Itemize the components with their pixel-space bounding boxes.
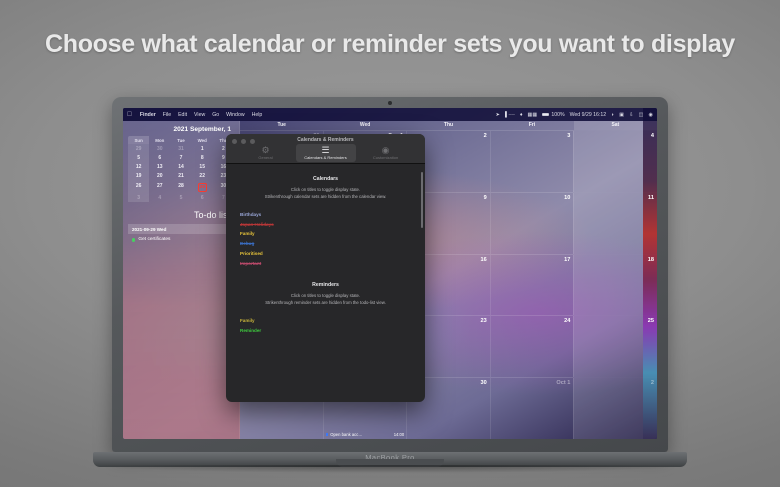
calendar-weekday-header: Wed [323, 121, 406, 130]
tab-customization-label: Customization [373, 155, 398, 160]
mini-calendar-day[interactable]: 19 [128, 172, 149, 181]
calendar-day-number: 10 [491, 195, 571, 201]
calendar-set-item[interactable]: Debug [240, 239, 415, 249]
mini-calendar-day[interactable]: 6 [149, 153, 170, 162]
webcam-icon [388, 101, 392, 105]
calendar-day-cell[interactable]: 3 [490, 131, 574, 192]
section-spacer [236, 268, 415, 282]
laptop-screen:  Finder File Edit View Go Window Help ➤… [123, 108, 657, 439]
calendar-weekday-header-row: TueWedThuFriSat [240, 121, 657, 130]
mini-calendar-day[interactable]: 27 [149, 181, 170, 193]
calendar-day-cell[interactable]: 10 [490, 193, 574, 254]
calendar-day-number: 4 [574, 133, 654, 139]
mini-weekday-mon: Mon [149, 136, 170, 144]
mini-calendar-day[interactable]: 8 [192, 153, 213, 162]
mini-weekday-sun: Sun [128, 136, 149, 144]
menu-item-go[interactable]: Go [212, 112, 219, 118]
tab-customization[interactable]: ◉ Customization [356, 144, 416, 162]
mini-calendar-day[interactable]: 31 [170, 144, 191, 153]
mini-calendar-week: 2627282930 [128, 181, 234, 193]
calendar-day-cell[interactable]: 11 [573, 193, 657, 254]
gear-icon: ⚙ [236, 145, 296, 155]
calendars-section-title: Calendars [236, 176, 415, 182]
calendar-set-item[interactable]: Birthdays [240, 209, 415, 219]
reminders-section-description: Click on titles to toggle display state.… [236, 293, 415, 306]
mini-calendar-day[interactable]: 28 [170, 181, 191, 193]
mini-calendar-day[interactable]: 5 [128, 153, 149, 162]
mini-calendar-day[interactable]: 20 [149, 172, 170, 181]
mini-calendar-day[interactable]: 5 [170, 193, 191, 202]
bluetooth-icon[interactable]: ♦ [520, 112, 523, 118]
laptop-shadow [90, 465, 690, 473]
todo-item-label: Get certificates [138, 237, 170, 242]
mini-calendar-weekday-row: Sun Mon Tue Wed Thu [128, 136, 234, 144]
tab-general[interactable]: ⚙ General [236, 144, 296, 162]
eye-icon: ◉ [356, 145, 416, 155]
mini-calendar-day[interactable]: 22 [192, 172, 213, 181]
mini-calendar-week: 29303112 [128, 144, 234, 153]
inbox-icon[interactable]: ◫ [639, 112, 644, 118]
calendar-set-item[interactable]: Family [240, 229, 415, 239]
calendar-day-number: 24 [491, 318, 571, 324]
preferences-content: Calendars Click on titles to toggle disp… [226, 164, 425, 402]
calendar-day-cell[interactable]: 17 [490, 255, 574, 316]
mini-calendar-day[interactable]: 30 [149, 144, 170, 153]
mini-calendar-week: 1213141516 [128, 163, 234, 172]
reminders-desc-line-2: Strikenthrough reminder sets are hidden … [236, 300, 415, 307]
calendar-day-cell[interactable]: 2 [573, 378, 657, 439]
macos-menu-bar:  Finder File Edit View Go Window Help ➤… [123, 108, 657, 121]
control-center-icon[interactable]: ◉ [648, 112, 653, 118]
calendar-set-list: BirthdaysJapan HolidaysFamilyDebugPriori… [236, 209, 415, 268]
mini-calendar-day[interactable]: 7 [170, 153, 191, 162]
list-icon: ☰ [296, 145, 356, 155]
calendar-day-cell[interactable]: Oct 1 [490, 378, 574, 439]
mini-calendar-week: 1920212223 [128, 172, 234, 181]
menu-item-view[interactable]: View [194, 112, 205, 118]
volume-slider-icon[interactable]: ▌┄┄ [505, 112, 515, 118]
mini-calendar-week: 34567 [128, 193, 234, 202]
calendar-day-number: 3 [491, 133, 571, 139]
calendars-desc-line-2: Strikenthrough calendar sets are hidden … [236, 194, 415, 201]
menu-item-window[interactable]: Window [226, 112, 244, 118]
calendar-event[interactable]: Open bank acc…14:00 [326, 432, 405, 437]
calendar-day-cell[interactable]: 4 [573, 131, 657, 192]
calendar-set-item[interactable]: Prioritised [240, 249, 415, 259]
battery-icon [542, 113, 549, 117]
calendar-day-number: Oct 1 [491, 380, 571, 386]
calendar-weekday-header: Sat [574, 121, 657, 130]
mini-calendar-day[interactable]: 15 [192, 163, 213, 172]
calendars-desc-line-1: Click on titles to toggle display state. [236, 187, 415, 194]
tab-calendars-reminders-label: Calendars & Reminders [304, 155, 346, 160]
mini-calendar: Sun Mon Tue Wed Thu 29303112567891213141… [128, 136, 234, 202]
reminder-set-item[interactable]: Family [240, 316, 415, 326]
calendar-day-cell[interactable]: 25 [573, 316, 657, 377]
calendar-day-number: 18 [574, 257, 654, 263]
mini-calendar-today: 29 [198, 183, 207, 192]
mini-calendar-day[interactable]: 6 [192, 193, 213, 202]
reminders-section-title: Reminders [236, 282, 415, 288]
event-time: 14:00 [394, 432, 404, 437]
calendar-set-item[interactable]: Important [240, 258, 415, 268]
laptop-lid:  Finder File Edit View Go Window Help ➤… [112, 97, 668, 452]
mini-calendar-day[interactable]: 29 [128, 144, 149, 153]
calendar-day-number: 25 [574, 318, 654, 324]
calendar-day-number: 2 [574, 380, 654, 386]
tab-calendars-reminders[interactable]: ☰ Calendars & Reminders [296, 144, 356, 162]
mini-calendar-weeks: 2930311256789121314151619202122232627282… [128, 144, 234, 202]
menu-item-finder[interactable]: Finder [140, 112, 156, 118]
preferences-tab-bar: ⚙ General ☰ Calendars & Reminders ◉ Cust… [236, 144, 416, 163]
download-icon[interactable]: ⇩ [629, 112, 633, 118]
mini-weekday-tue: Tue [170, 136, 191, 144]
mini-calendar-day[interactable]: 29 [192, 181, 213, 193]
reminder-set-list: FamilyReminder [236, 316, 415, 336]
mini-calendar-day[interactable]: 21 [170, 172, 191, 181]
event-title: Open bank acc… [330, 432, 392, 437]
mini-calendar-day[interactable]: 1 [192, 144, 213, 153]
mini-calendar-day[interactable]: 3 [128, 193, 149, 202]
todo-list-item[interactable]: Get certificates [128, 234, 234, 245]
display-icon[interactable]: ▣ [619, 112, 624, 118]
location-arrow-icon[interactable]: ➤ [496, 112, 500, 118]
menu-bar-clock[interactable]: Wed 9/29 16:12 [570, 112, 607, 118]
calendar-set-item[interactable]: Japan Holidays [240, 219, 415, 229]
calendar-day-cell[interactable]: 18 [573, 255, 657, 316]
mini-weekday-wed: Wed [192, 136, 213, 144]
reminder-set-item[interactable]: Reminder [240, 325, 415, 335]
system-stats-icon[interactable]: ▦▦ [528, 112, 538, 118]
mini-calendar-day[interactable]: 4 [149, 193, 170, 202]
todo-list-title: To-do list [128, 210, 234, 220]
calendar-sidebar: 2021 September, 1 Sun Mon Tue Wed Thu 29… [123, 121, 240, 439]
reminders-desc-line-1: Click on titles to toggle display state. [236, 293, 415, 300]
macbook-pro-mockup:  Finder File Edit View Go Window Help ➤… [93, 97, 687, 467]
calendar-day-cell[interactable]: 24 [490, 316, 574, 377]
battery-status[interactable]: 100% [542, 112, 564, 118]
todo-status-dot [132, 238, 135, 241]
menu-item-file[interactable]: File [163, 112, 171, 118]
todo-date-header: 2021-09-29 Wed [128, 224, 234, 234]
mini-calendar-day[interactable]: 26 [128, 181, 149, 193]
mini-calendar-day[interactable]: 14 [170, 163, 191, 172]
preferences-dialog[interactable]: Calendars & Reminders ⚙ General ☰ Calend… [226, 134, 425, 402]
calendar-day-number: 11 [574, 195, 654, 201]
calendar-weekday-header: Tue [240, 121, 323, 130]
event-color-dot [326, 433, 329, 436]
page-title: Choose what calendar or reminder sets yo… [0, 30, 780, 59]
siri-icon[interactable]: ◗ [611, 112, 614, 118]
mini-calendar-day[interactable]: 12 [128, 163, 149, 172]
menu-item-help[interactable]: Help [252, 112, 263, 118]
calendar-weekday-header: Fri [490, 121, 573, 130]
preferences-toolbar: Calendars & Reminders ⚙ General ☰ Calend… [226, 134, 425, 164]
preferences-window-title: Calendars & Reminders [226, 137, 425, 143]
tab-general-label: General [258, 155, 272, 160]
mini-calendar-day[interactable]: 13 [149, 163, 170, 172]
sidebar-month-title: 2021 September, 1 [128, 126, 234, 133]
battery-label: 100% [551, 112, 564, 118]
calendar-weekday-header: Thu [407, 121, 490, 130]
apple-icon[interactable]:  [127, 111, 132, 118]
calendars-section-description: Click on titles to toggle display state.… [236, 187, 415, 200]
menu-item-edit[interactable]: Edit [178, 112, 187, 118]
calendar-day-number: 17 [491, 257, 571, 263]
vertical-scrollbar[interactable] [421, 172, 423, 228]
mini-calendar-week: 56789 [128, 153, 234, 162]
